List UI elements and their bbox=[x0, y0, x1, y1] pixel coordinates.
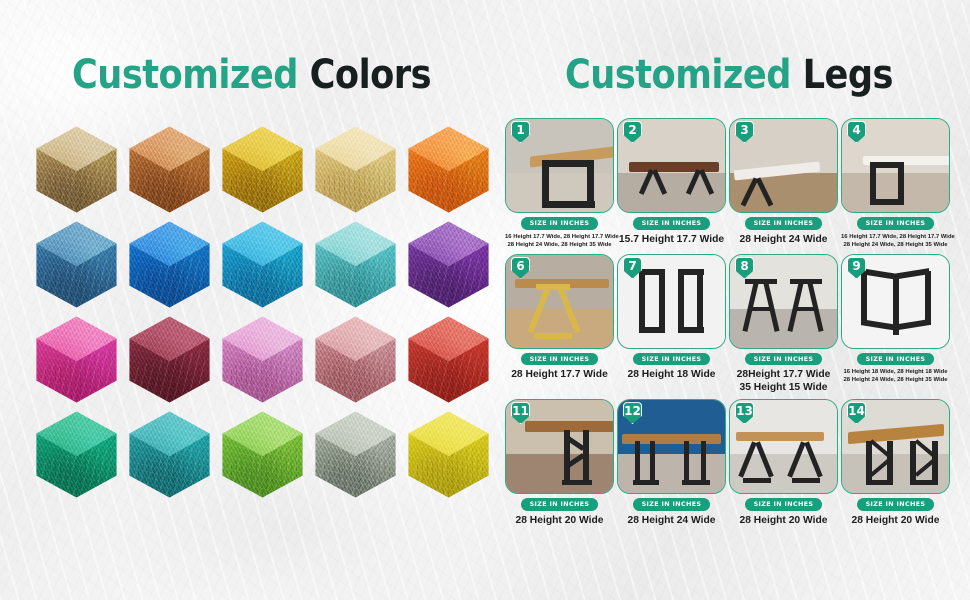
hexagon-icon bbox=[36, 221, 118, 309]
hexagon-icon bbox=[129, 411, 211, 499]
size-in-inches-pill: SIZE IN INCHES bbox=[857, 353, 935, 366]
color-swatch[interactable] bbox=[402, 217, 495, 312]
color-swatch[interactable] bbox=[30, 407, 123, 502]
leg-option-card[interactable]: 14 SIZE IN INCHES 28 Height 20 Wide bbox=[841, 399, 950, 527]
leg-photo[interactable]: 9 bbox=[841, 254, 950, 349]
leg-size-line: 28 Height 18 Wide bbox=[617, 368, 726, 381]
hexagon-icon bbox=[129, 221, 211, 309]
size-in-inches-pill: SIZE IN INCHES bbox=[745, 217, 823, 230]
color-swatch[interactable] bbox=[309, 122, 402, 217]
hexagon-icon bbox=[129, 126, 211, 214]
hexagon-icon bbox=[222, 221, 304, 309]
page-title-legs: Customized Legs bbox=[565, 52, 893, 98]
leg-photo[interactable]: 12 bbox=[617, 399, 726, 494]
leg-option-card[interactable]: 7 SIZE IN INCHES 28 Height 18 Wide bbox=[617, 254, 726, 395]
leg-photo[interactable]: 4 bbox=[841, 118, 950, 213]
page-title-colors: Customized Colors bbox=[72, 52, 431, 98]
hexagon-icon bbox=[315, 126, 397, 214]
size-in-inches-pill: SIZE IN INCHES bbox=[521, 498, 599, 511]
leg-size-line: 16 Height 17.7 Wide, 28 Height 17.7 Wide bbox=[505, 233, 614, 241]
leg-size-line: 28 Height 20 Wide bbox=[841, 514, 950, 527]
color-swatch[interactable] bbox=[309, 217, 402, 312]
hexagon-icon bbox=[36, 316, 118, 404]
leg-size-line: 15.7 Height 17.7 Wide bbox=[617, 233, 726, 246]
leg-option-card[interactable]: 9 SIZE IN INCHES 16 Height 18 Wide, 28 H… bbox=[841, 254, 950, 395]
hexagon-icon bbox=[408, 126, 490, 214]
leg-photo[interactable]: 13 bbox=[729, 399, 838, 494]
leg-size-text: 28Height 17.7 Wide35 Height 15 Wide bbox=[729, 368, 838, 394]
leg-option-card[interactable]: 8 SIZE IN INCHES 28Height 17.7 Wide35 He… bbox=[729, 254, 838, 395]
hexagon-icon bbox=[408, 221, 490, 309]
leg-size-text: 28 Height 17.7 Wide bbox=[505, 368, 614, 381]
leg-option-card[interactable]: 3 SIZE IN INCHES 28 Height 24 Wide bbox=[729, 118, 838, 249]
size-in-inches-pill: SIZE IN INCHES bbox=[633, 217, 711, 230]
leg-size-text: 28 Height 20 Wide bbox=[729, 514, 838, 527]
color-swatch[interactable] bbox=[309, 312, 402, 407]
leg-size-line: 35 Height 15 Wide bbox=[729, 381, 838, 394]
color-swatch-grid bbox=[30, 122, 495, 502]
promo-banner: Customized Colors Customized Legs 1 SIZE… bbox=[0, 0, 970, 600]
hexagon-icon bbox=[222, 316, 304, 404]
leg-size-line: 28 Height 20 Wide bbox=[729, 514, 838, 527]
leg-photo[interactable]: 14 bbox=[841, 399, 950, 494]
leg-option-card[interactable]: 1 SIZE IN INCHES 16 Height 17.7 Wide, 28… bbox=[505, 118, 614, 249]
leg-photo[interactable]: 3 bbox=[729, 118, 838, 213]
size-in-inches-pill: SIZE IN INCHES bbox=[857, 498, 935, 511]
hexagon-icon bbox=[408, 411, 490, 499]
leg-photo[interactable]: 2 bbox=[617, 118, 726, 213]
color-swatch[interactable] bbox=[216, 407, 309, 502]
hexagon-icon bbox=[36, 411, 118, 499]
color-swatch[interactable] bbox=[216, 217, 309, 312]
color-swatch[interactable] bbox=[30, 217, 123, 312]
hexagon-icon bbox=[315, 221, 397, 309]
leg-size-line: 16 Height 18 Wide, 28 Height 18 Wide bbox=[841, 368, 950, 376]
title-legs-dark: Legs bbox=[803, 52, 893, 98]
color-swatch[interactable] bbox=[402, 312, 495, 407]
leg-option-card[interactable]: 11 SIZE IN INCHES 28 Height 20 Wide bbox=[505, 399, 614, 527]
color-swatch[interactable] bbox=[216, 312, 309, 407]
leg-size-line: 28 Height 17.7 Wide bbox=[505, 368, 614, 381]
hexagon-icon bbox=[222, 126, 304, 214]
leg-size-text: 15.7 Height 17.7 Wide bbox=[617, 233, 726, 246]
leg-option-card[interactable]: 4 SIZE IN INCHES 16 Height 17.7 Wide, 28… bbox=[841, 118, 950, 249]
leg-size-line: 28 Height 24 Wide, 28 Height 35 Wide bbox=[841, 241, 950, 249]
leg-size-line: 28 Height 24 Wide bbox=[729, 233, 838, 246]
leg-photo[interactable]: 7 bbox=[617, 254, 726, 349]
color-swatch[interactable] bbox=[30, 122, 123, 217]
hexagon-icon bbox=[408, 316, 490, 404]
color-swatch[interactable] bbox=[216, 122, 309, 217]
legs-card-grid: 1 SIZE IN INCHES 16 Height 17.7 Wide, 28… bbox=[505, 118, 950, 527]
hexagon-icon bbox=[315, 411, 397, 499]
hexagon-icon bbox=[36, 126, 118, 214]
title-legs-accent: Customized bbox=[565, 52, 791, 98]
leg-size-text: 28 Height 20 Wide bbox=[841, 514, 950, 527]
leg-size-text: 28 Height 20 Wide bbox=[505, 514, 614, 527]
size-in-inches-pill: SIZE IN INCHES bbox=[521, 217, 599, 230]
leg-option-card[interactable]: 2 SIZE IN INCHES 15.7 Height 17.7 Wide bbox=[617, 118, 726, 249]
hexagon-icon bbox=[222, 411, 304, 499]
leg-size-line: 28 Height 24 Wide, 28 Height 35 Wide bbox=[841, 376, 950, 384]
leg-size-text: 28 Height 18 Wide bbox=[617, 368, 726, 381]
leg-photo[interactable]: 8 bbox=[729, 254, 838, 349]
leg-photo[interactable]: 11 bbox=[505, 399, 614, 494]
size-in-inches-pill: SIZE IN INCHES bbox=[633, 498, 711, 511]
color-swatch[interactable] bbox=[123, 407, 216, 502]
leg-size-line: 28 Height 20 Wide bbox=[505, 514, 614, 527]
color-swatch[interactable] bbox=[402, 407, 495, 502]
leg-size-text: 16 Height 17.7 Wide, 28 Height 17.7 Wide… bbox=[505, 233, 614, 249]
leg-size-text: 16 Height 17.7 Wide, 28 Height 17.7 Wide… bbox=[841, 233, 950, 249]
color-swatch[interactable] bbox=[123, 122, 216, 217]
color-swatch[interactable] bbox=[402, 122, 495, 217]
size-in-inches-pill: SIZE IN INCHES bbox=[521, 353, 599, 366]
hexagon-icon bbox=[315, 316, 397, 404]
leg-size-line: 28Height 17.7 Wide bbox=[729, 368, 838, 381]
leg-size-line: 28 Height 24 Wide bbox=[617, 514, 726, 527]
leg-option-card[interactable]: 6 SIZE IN INCHES 28 Height 17.7 Wide bbox=[505, 254, 614, 395]
color-swatch[interactable] bbox=[309, 407, 402, 502]
leg-size-text: 28 Height 24 Wide bbox=[617, 514, 726, 527]
title-colors-accent: Customized bbox=[72, 52, 298, 98]
title-colors-dark: Colors bbox=[310, 52, 431, 98]
leg-photo[interactable]: 6 bbox=[505, 254, 614, 349]
leg-size-line: 28 Height 24 Wide, 28 Height 35 Wide bbox=[505, 241, 614, 249]
size-in-inches-pill: SIZE IN INCHES bbox=[633, 353, 711, 366]
leg-size-line: 16 Height 17.7 Wide, 28 Height 17.7 Wide bbox=[841, 233, 950, 241]
size-in-inches-pill: SIZE IN INCHES bbox=[857, 217, 935, 230]
size-in-inches-pill: SIZE IN INCHES bbox=[745, 353, 823, 366]
leg-photo[interactable]: 1 bbox=[505, 118, 614, 213]
color-swatch[interactable] bbox=[30, 312, 123, 407]
leg-option-card[interactable]: 12 SIZE IN INCHES 28 Height 24 Wide bbox=[617, 399, 726, 527]
color-swatch[interactable] bbox=[123, 217, 216, 312]
size-in-inches-pill: SIZE IN INCHES bbox=[745, 498, 823, 511]
hexagon-icon bbox=[129, 316, 211, 404]
leg-size-text: 28 Height 24 Wide bbox=[729, 233, 838, 246]
leg-option-card[interactable]: 13 SIZE IN INCHES 28 Height 20 Wide bbox=[729, 399, 838, 527]
leg-size-text: 16 Height 18 Wide, 28 Height 18 Wide28 H… bbox=[841, 368, 950, 384]
color-swatch[interactable] bbox=[123, 312, 216, 407]
